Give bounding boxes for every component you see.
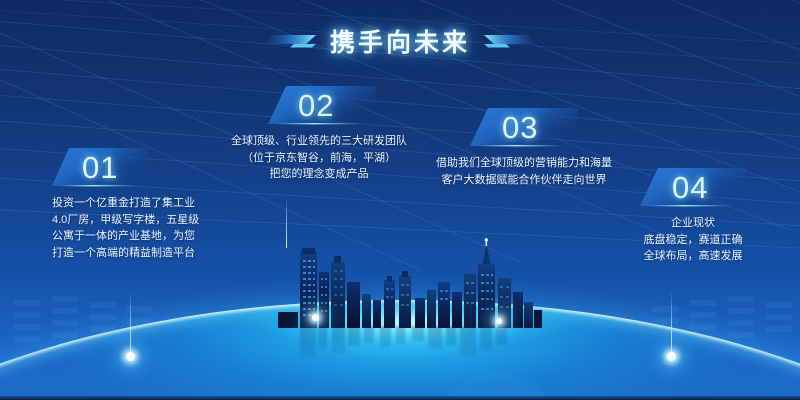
feature-block-03[interactable]: 03 借助我们全球顶级的营销能力和海量 客户大数据赋能合作伙伴走向世界 bbox=[422, 108, 626, 188]
badge-02: 02 bbox=[268, 86, 376, 126]
block-text-04: 企业现状 底盘稳定，赛道正确 全球布局，高速发展 bbox=[602, 215, 784, 265]
badge-04: 04 bbox=[640, 168, 746, 208]
bottom-edge bbox=[0, 396, 800, 400]
glow-node-city-right bbox=[496, 318, 502, 324]
badge-number-01: 01 bbox=[82, 148, 118, 188]
globe-arc-illustration bbox=[0, 300, 800, 400]
badge-01: 01 bbox=[52, 148, 148, 188]
light-beam-center bbox=[286, 196, 287, 248]
badge-number-02: 02 bbox=[298, 86, 334, 126]
light-beam-right bbox=[671, 290, 672, 354]
block-text-03: 借助我们全球顶级的营销能力和海量 客户大数据赋能合作伙伴走向世界 bbox=[422, 155, 626, 188]
continent-silhouettes bbox=[0, 300, 800, 400]
title-row: 携手向未来 bbox=[0, 24, 800, 58]
chevron-left-deco bbox=[260, 33, 316, 49]
chevron-right-deco bbox=[484, 33, 540, 49]
block-text-01: 投资一个亿重金打造了集工业 4.0厂房，甲级写字楼，五星级 公寓于一体的产业基地… bbox=[52, 195, 232, 261]
slide-canvas: 携手向未来 bbox=[0, 0, 800, 400]
page-title: 携手向未来 bbox=[330, 23, 470, 59]
horizon-glow bbox=[200, 296, 630, 356]
badge-number-03: 03 bbox=[502, 108, 538, 148]
badge-number-04: 04 bbox=[672, 168, 708, 208]
block-text-02: 全球顶级、行业领先的三大研发团队 （位于京东智谷，前海，平湖） 把您的理念变成产… bbox=[216, 133, 422, 183]
badge-03: 03 bbox=[470, 108, 578, 148]
light-beam-left bbox=[130, 290, 131, 354]
city-skyline-illustration bbox=[278, 238, 542, 328]
feature-block-04[interactable]: 04 企业现状 底盘稳定，赛道正确 全球布局，高速发展 bbox=[602, 168, 784, 265]
glow-node-right bbox=[667, 352, 676, 361]
glow-node-left bbox=[126, 352, 135, 361]
city-reflection bbox=[278, 326, 542, 366]
feature-block-02[interactable]: 02 全球顶级、行业领先的三大研发团队 （位于京东智谷，前海，平湖） 把您的理念… bbox=[216, 86, 422, 183]
glow-node-city bbox=[312, 314, 319, 321]
feature-block-01[interactable]: 01 投资一个亿重金打造了集工业 4.0厂房，甲级写字楼，五星级 公寓于一体的产… bbox=[52, 148, 232, 261]
